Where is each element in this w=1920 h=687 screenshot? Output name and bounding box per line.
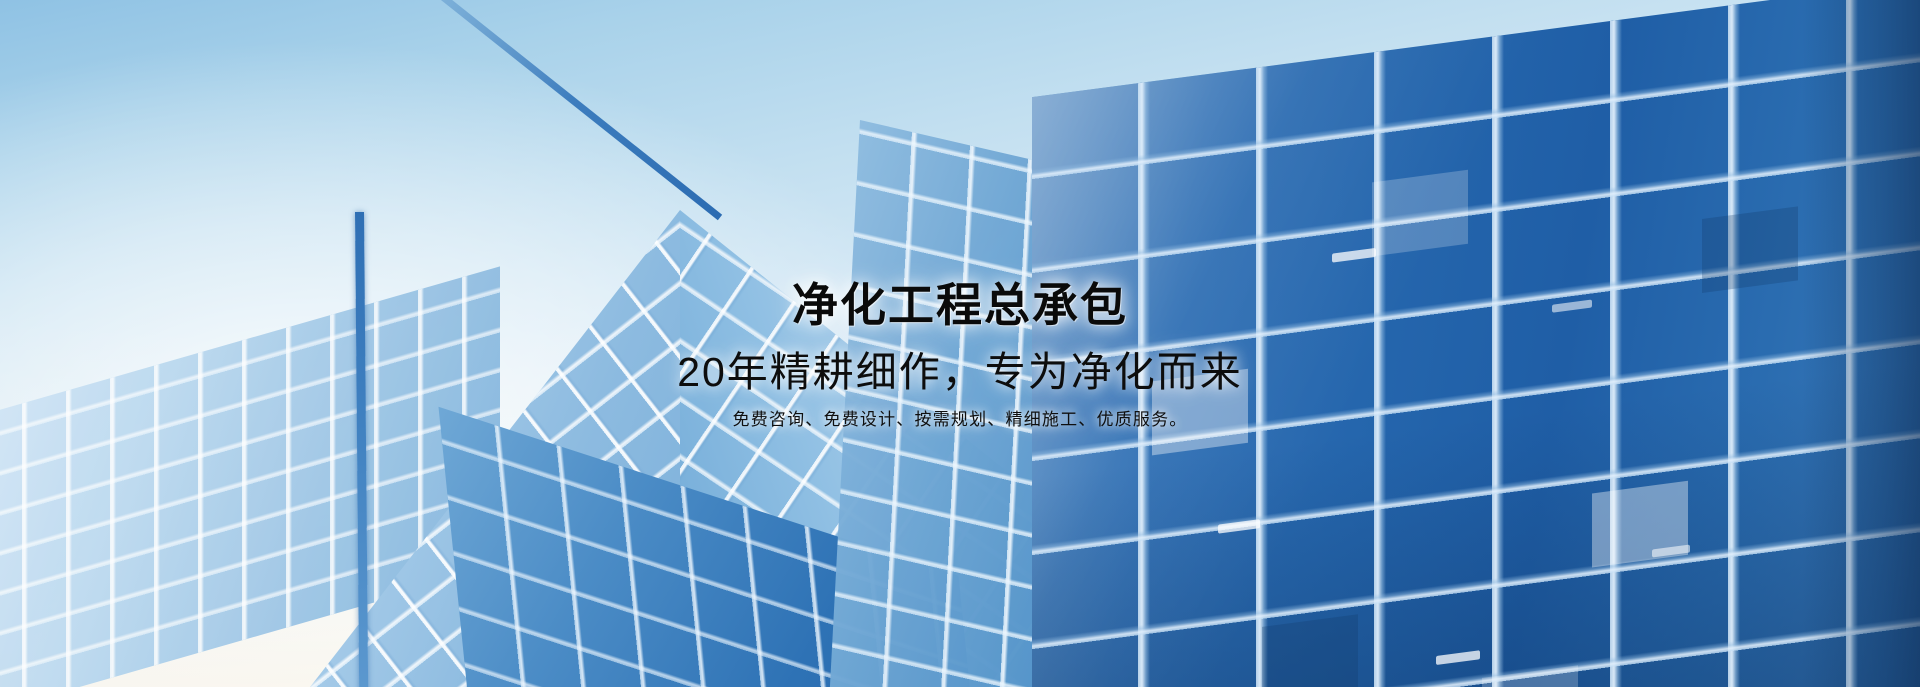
tower-right-edge-shadow	[1802, 0, 1920, 687]
glass-pane	[1262, 614, 1358, 687]
right-glass-tower	[1032, 0, 1920, 687]
glass-pane	[1702, 206, 1798, 293]
tower-horizontal-mullions	[1032, 0, 1920, 687]
hero-banner: 净化工程总承包 20年精耕细作，专为净化而来 免费咨询、免费设计、按需规划、精细…	[0, 0, 1920, 687]
glass-pane	[1372, 170, 1468, 257]
glass-pane	[1152, 369, 1248, 456]
